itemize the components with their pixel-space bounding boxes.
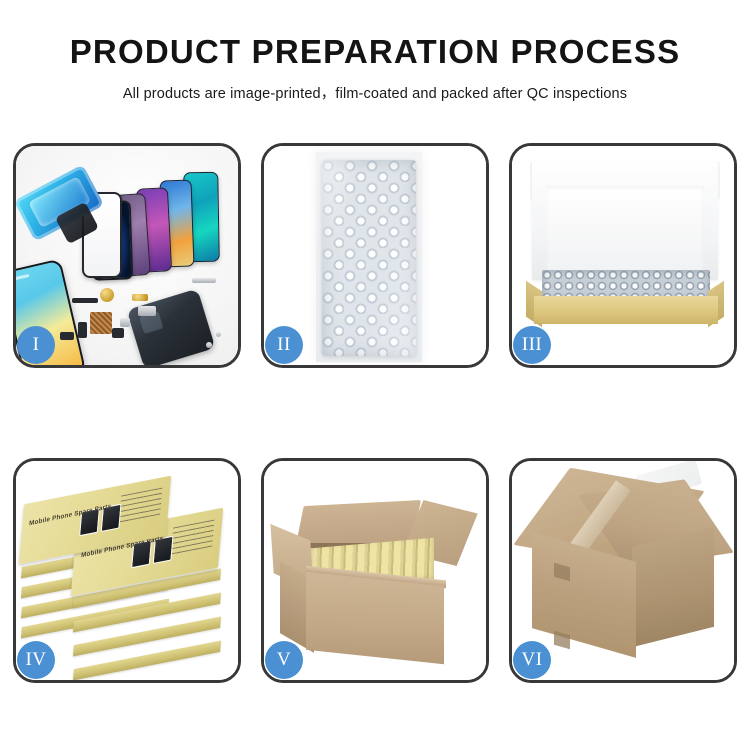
step-panel-4[interactable]: Mobile Phone Spare Parts Mobile Phone Sp… [13,458,241,683]
page-title: PRODUCT PREPARATION PROCESS [0,34,750,70]
step-badge-3: III [513,326,551,364]
part-screw-2 [216,332,221,337]
step-panel-6[interactable]: VI [509,458,737,683]
part-button-flex [78,322,87,338]
part-flex-strip [72,298,98,303]
part-metal-shield [138,306,156,316]
part-gold-bracket [132,294,148,301]
part-camera-module [120,318,130,327]
part-connector-grid [90,312,112,334]
step-badge-4: IV [17,641,55,679]
part-speaker [112,328,124,338]
step-panel-2[interactable]: II [261,143,489,368]
plastic-sheen [322,160,416,356]
page-subtitle: All products are image-printed，film-coat… [0,82,750,103]
carton-side-right [632,527,714,647]
box-front-yellow [534,296,718,324]
part-gold-disc [100,288,114,302]
step-badge-6: VI [513,641,551,679]
box-lid-white [532,162,718,280]
step-badge-1: I [17,326,55,364]
page-header: PRODUCT PREPARATION PROCESS All products… [0,0,750,103]
part-tweezers [192,278,216,283]
part-screw-1 [206,342,212,348]
step-badge-2: II [265,326,303,364]
part-vibration-motor [60,332,74,340]
step-panel-1[interactable]: I [13,143,241,368]
step-panel-3[interactable]: III [509,143,737,368]
step-panel-5[interactable]: V [261,458,489,683]
process-steps-grid: I II III [13,143,737,683]
step-badge-5: V [265,641,303,679]
box-spec-lines [119,488,163,525]
carton-front [306,572,444,665]
box-spec-lines [171,520,215,557]
